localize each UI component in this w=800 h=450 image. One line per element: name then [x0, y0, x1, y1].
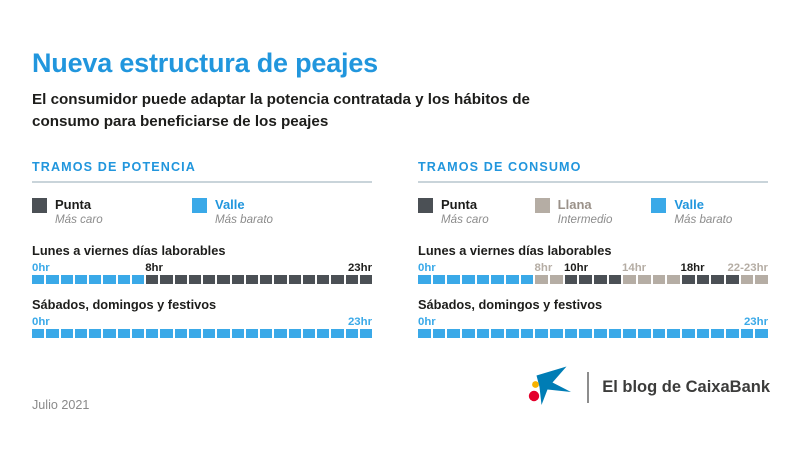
hour-segment — [550, 329, 563, 338]
legend: PuntaMás caroLlanaIntermedioValleMás bar… — [418, 197, 768, 227]
hour-segment — [175, 275, 187, 284]
hour-segment — [418, 329, 431, 338]
date-stamp: Julio 2021 — [32, 398, 89, 412]
hour-label: 10hr — [564, 262, 588, 274]
hour-segment — [189, 329, 201, 338]
day-row-title: Sábados, domingos y festivos — [32, 297, 372, 312]
hour-segment — [75, 329, 87, 338]
hour-segment — [506, 275, 519, 284]
legend-item: ValleMás barato — [192, 197, 352, 227]
section-tramos-de-potencia: TRAMOS DE POTENCIA PuntaMás caroValleMás… — [32, 160, 372, 351]
legend-item: PuntaMás caro — [32, 197, 192, 227]
hour-segment — [317, 275, 329, 284]
hour-segment — [565, 275, 578, 284]
day-row: Lunes a viernes días laborables0hr8hr10h… — [418, 243, 768, 284]
hour-segment — [160, 275, 172, 284]
legend-text: ValleMás barato — [215, 197, 273, 227]
chart-rows: Lunes a viernes días laborables0hr8hr10h… — [418, 243, 768, 338]
hour-segment — [46, 275, 58, 284]
legend-label: Llana — [558, 197, 613, 213]
hour-segment — [331, 275, 343, 284]
legend-sublabel: Más barato — [674, 213, 732, 227]
hour-segment — [726, 329, 739, 338]
legend-swatch — [418, 198, 433, 213]
day-row: Sábados, domingos y festivos0hr23hr — [32, 297, 372, 338]
legend-item: ValleMás barato — [651, 197, 768, 227]
legend-swatch — [192, 198, 207, 213]
caixabank-star-logo — [522, 362, 574, 413]
hour-segment — [462, 329, 475, 338]
brand-divider — [587, 372, 589, 403]
hour-segment — [175, 329, 187, 338]
hour-segment — [447, 275, 460, 284]
hour-segment — [32, 329, 44, 338]
hour-segment — [433, 275, 446, 284]
legend-swatch — [535, 198, 550, 213]
legend-label: Punta — [441, 197, 489, 213]
hour-segment — [118, 329, 130, 338]
page-subtitle: El consumidor puede adaptar la potencia … — [32, 89, 572, 132]
hour-label: 0hr — [418, 262, 436, 274]
hour-segment — [360, 275, 372, 284]
hour-segment — [477, 275, 490, 284]
legend: PuntaMás caroValleMás barato — [32, 197, 372, 227]
hour-segment — [623, 275, 636, 284]
hour-label: 22-23hr — [727, 262, 768, 274]
legend-label: Valle — [674, 197, 732, 213]
hour-axis: 0hr8hr23hr — [32, 262, 372, 275]
hour-segment — [711, 275, 724, 284]
hour-segment — [755, 329, 768, 338]
hour-segment — [491, 275, 504, 284]
hour-label: 8hr — [535, 262, 553, 274]
hour-segment — [579, 275, 592, 284]
hour-segment — [594, 275, 607, 284]
hour-segment — [579, 329, 592, 338]
hour-segment — [289, 329, 301, 338]
brand-footer: El blog de CaixaBank — [522, 362, 770, 413]
legend-text: PuntaMás caro — [55, 197, 103, 227]
day-row-title: Lunes a viernes días laborables — [32, 243, 372, 258]
hour-label: 0hr — [32, 262, 50, 274]
hour-segment — [535, 275, 548, 284]
section-heading: TRAMOS DE POTENCIA — [32, 160, 372, 181]
legend-sublabel: Más barato — [215, 213, 273, 227]
hour-segment — [521, 329, 534, 338]
hour-segment — [160, 329, 172, 338]
page-title: Nueva estructura de peajes — [32, 48, 378, 79]
hour-segment — [118, 275, 130, 284]
hour-bar — [32, 275, 372, 284]
brand-text: El blog de CaixaBank — [602, 378, 770, 397]
hour-segment — [246, 275, 258, 284]
hour-bar — [418, 275, 768, 284]
hour-segment — [246, 329, 258, 338]
hour-segment — [303, 329, 315, 338]
hour-segment — [667, 329, 680, 338]
chart-rows: Lunes a viernes días laborables0hr8hr23h… — [32, 243, 372, 338]
hour-axis: 0hr23hr — [32, 316, 372, 329]
hour-label: 8hr — [145, 262, 163, 274]
hour-label: 14hr — [622, 262, 646, 274]
hour-segment — [638, 275, 651, 284]
hour-bar — [32, 329, 372, 338]
hour-segment — [146, 329, 158, 338]
hour-segment — [521, 275, 534, 284]
hour-segment — [462, 275, 475, 284]
hour-segment — [653, 275, 666, 284]
hour-segment — [189, 275, 201, 284]
hour-segment — [46, 329, 58, 338]
hour-label: 23hr — [348, 316, 372, 328]
hour-segment — [61, 275, 73, 284]
hour-axis: 0hr8hr10hr14hr18hr22-23hr — [418, 262, 768, 275]
hour-segment — [653, 329, 666, 338]
hour-segment — [697, 275, 710, 284]
hour-label: 0hr — [418, 316, 436, 328]
hour-bar — [418, 329, 768, 338]
legend-sublabel: Intermedio — [558, 213, 613, 227]
hour-segment — [203, 275, 215, 284]
hour-segment — [741, 329, 754, 338]
hour-segment — [146, 275, 158, 284]
hour-segment — [711, 329, 724, 338]
legend-label: Valle — [215, 197, 273, 213]
hour-segment — [217, 329, 229, 338]
hour-segment — [623, 329, 636, 338]
hour-segment — [491, 329, 504, 338]
hour-segment — [203, 329, 215, 338]
hour-segment — [232, 275, 244, 284]
hour-segment — [274, 275, 286, 284]
hour-label: 23hr — [348, 262, 372, 274]
hour-segment — [346, 329, 358, 338]
hour-segment — [535, 329, 548, 338]
hour-segment — [89, 329, 101, 338]
hour-segment — [132, 329, 144, 338]
hour-segment — [232, 329, 244, 338]
hour-segment — [331, 329, 343, 338]
hour-segment — [682, 329, 695, 338]
hour-segment — [289, 275, 301, 284]
hour-segment — [755, 275, 768, 284]
legend-sublabel: Más caro — [441, 213, 489, 227]
hour-label: 0hr — [32, 316, 50, 328]
legend-text: ValleMás barato — [674, 197, 732, 227]
hour-segment — [697, 329, 710, 338]
section-divider — [32, 181, 372, 183]
hour-segment — [303, 275, 315, 284]
hour-segment — [32, 275, 44, 284]
section-tramos-de-consumo: TRAMOS DE CONSUMO PuntaMás caroLlanaInte… — [418, 160, 768, 351]
legend-item: LlanaIntermedio — [535, 197, 652, 227]
hour-segment — [594, 329, 607, 338]
section-divider — [418, 181, 768, 183]
hour-segment — [75, 275, 87, 284]
hour-segment — [447, 329, 460, 338]
day-row: Lunes a viernes días laborables0hr8hr23h… — [32, 243, 372, 284]
infographic-canvas: Nueva estructura de peajes El consumidor… — [0, 0, 800, 450]
hour-label: 18hr — [681, 262, 705, 274]
hour-segment — [260, 329, 272, 338]
hour-segment — [103, 275, 115, 284]
hour-segment — [274, 329, 286, 338]
hour-segment — [418, 275, 431, 284]
hour-segment — [89, 275, 101, 284]
hour-axis: 0hr23hr — [418, 316, 768, 329]
hour-segment — [433, 329, 446, 338]
hour-segment — [346, 275, 358, 284]
hour-segment — [741, 275, 754, 284]
legend-swatch — [32, 198, 47, 213]
legend-label: Punta — [55, 197, 103, 213]
legend-item: PuntaMás caro — [418, 197, 535, 227]
hour-segment — [550, 275, 563, 284]
hour-segment — [667, 275, 680, 284]
hour-segment — [609, 275, 622, 284]
day-row: Sábados, domingos y festivos0hr23hr — [418, 297, 768, 338]
hour-segment — [638, 329, 651, 338]
hour-segment — [506, 329, 519, 338]
day-row-title: Lunes a viernes días laborables — [418, 243, 768, 258]
hour-segment — [61, 329, 73, 338]
hour-segment — [565, 329, 578, 338]
hour-segment — [360, 329, 372, 338]
hour-segment — [477, 329, 490, 338]
hour-segment — [317, 329, 329, 338]
hour-segment — [682, 275, 695, 284]
legend-swatch — [651, 198, 666, 213]
hour-segment — [260, 275, 272, 284]
legend-sublabel: Más caro — [55, 213, 103, 227]
legend-text: LlanaIntermedio — [558, 197, 613, 227]
hour-segment — [103, 329, 115, 338]
hour-segment — [609, 329, 622, 338]
hour-segment — [132, 275, 144, 284]
section-heading: TRAMOS DE CONSUMO — [418, 160, 768, 181]
hour-segment — [726, 275, 739, 284]
legend-text: PuntaMás caro — [441, 197, 489, 227]
hour-label: 23hr — [744, 316, 768, 328]
day-row-title: Sábados, domingos y festivos — [418, 297, 768, 312]
hour-segment — [217, 275, 229, 284]
